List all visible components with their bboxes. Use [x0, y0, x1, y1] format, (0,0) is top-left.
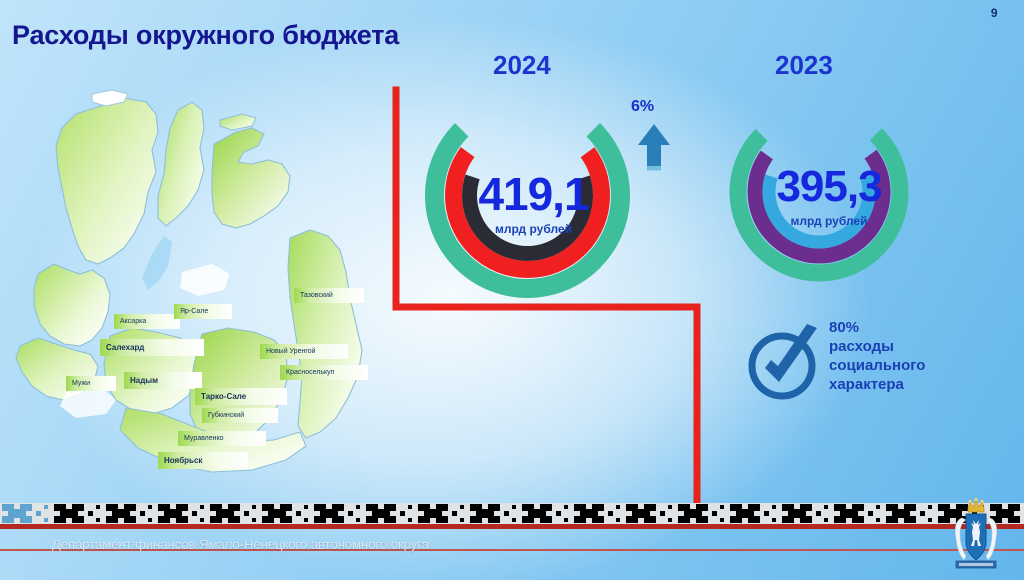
- map-label-muravlenko: Муравленко: [178, 431, 266, 446]
- map-label-aksarka: Аксарка: [114, 314, 180, 329]
- bottom-fade: [0, 525, 1024, 580]
- year-label-2023: 2023: [775, 50, 833, 81]
- page-number: 9: [991, 6, 998, 20]
- growth-percent: 6%: [631, 98, 654, 116]
- slide-canvas: 9 Расходы окружного бюджета: [0, 0, 1024, 580]
- donut-2024-center: 419,1 млрд рублей: [426, 96, 641, 311]
- unit-2023: млрд рублей: [791, 214, 868, 228]
- social-expenses-text: 80% расходы социального характера: [829, 318, 925, 394]
- checkmark-circle-icon: [745, 324, 823, 406]
- social-line-0: 80%: [829, 318, 925, 337]
- map-label-tazovsky: Тазовский: [294, 288, 364, 303]
- map-label-nadym: Надым: [124, 372, 202, 389]
- value-2024: 419,1: [478, 171, 588, 217]
- page-title: Расходы окружного бюджета: [12, 20, 399, 51]
- footer-text: Департамент финансов Ямало-Ненецкого авт…: [52, 537, 429, 552]
- social-line-2: социального: [829, 356, 925, 375]
- map-region: АксаркаЯр-СалеТазовскийСалехардНовый Уре…: [6, 88, 426, 488]
- map-label-krasnoselkup: Красноселькуп: [280, 365, 368, 380]
- map-label-yar-sale: Яр-Сале: [174, 304, 232, 319]
- donut-chart-2024: 419,1 млрд рублей: [420, 88, 635, 303]
- social-line-3: характера: [829, 375, 925, 394]
- arrow-up-icon: [636, 122, 672, 174]
- ornament-svg: [0, 503, 1024, 525]
- map-label-novy-urengoy: Новый Уренгой: [260, 344, 348, 359]
- year-label-2024: 2024: [493, 50, 551, 81]
- ornamental-border: [0, 503, 1024, 525]
- social-line-1: расходы: [829, 337, 925, 356]
- yanao-coat-of-arms: [946, 498, 1006, 576]
- map-label-salekhard: Салехард: [100, 339, 204, 356]
- map-label-noyabrsk: Ноябрьск: [158, 452, 248, 469]
- map-label-gubkinsky: Губкинский: [202, 408, 278, 423]
- map-label-tarko-sale: Тарко-Сале: [195, 388, 287, 405]
- map-label-muzhi: Мужи: [66, 376, 116, 391]
- donut-chart-2023: 395,3 млрд рублей: [723, 96, 915, 288]
- emblem-svg: [946, 498, 1006, 576]
- donut-2023-center: 395,3 млрд рублей: [733, 100, 925, 292]
- value-2023: 395,3: [776, 165, 881, 209]
- map-label-layer: АксаркаЯр-СалеТазовскийСалехардНовый Уре…: [6, 88, 426, 488]
- social-expenses-block: 80% расходы социального характера: [745, 318, 995, 438]
- unit-2024: млрд рублей: [495, 222, 572, 236]
- red-divider-thick: [0, 524, 1024, 529]
- growth-indicator: 6%: [620, 98, 690, 178]
